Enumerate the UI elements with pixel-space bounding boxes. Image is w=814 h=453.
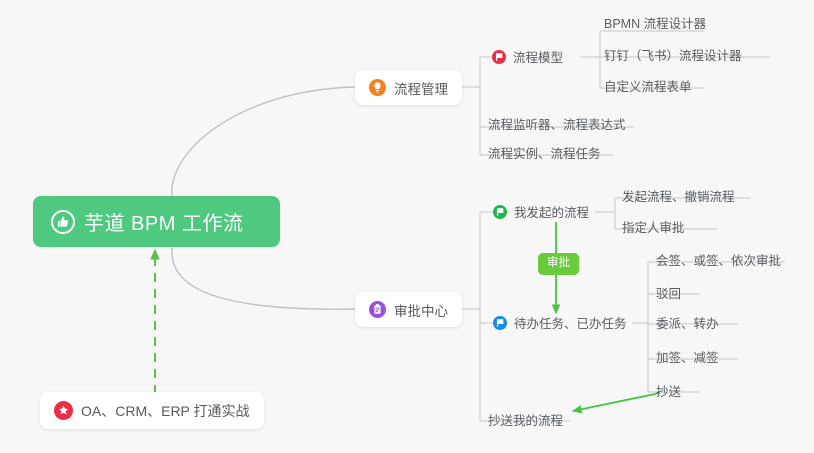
node-custom-process-form-label: 自定义流程表单 — [604, 76, 692, 95]
node-process-management[interactable]: 流程管理 — [355, 70, 462, 105]
node-cc-to-me[interactable]: 抄送我的流程 — [488, 410, 563, 429]
node-custom-process-form[interactable]: 自定义流程表单 — [604, 76, 692, 95]
node-instance-task-label: 流程实例、流程任务 — [488, 143, 601, 162]
node-instance-task[interactable]: 流程实例、流程任务 — [488, 143, 601, 162]
flag-circle-blue-icon — [493, 316, 507, 330]
node-countersign[interactable]: 会签、或签、依次审批 — [656, 250, 781, 269]
node-carbon-copy-label: 抄送 — [656, 381, 681, 400]
edge-root-to-process-management — [172, 87, 355, 196]
node-carbon-copy[interactable]: 抄送 — [656, 381, 681, 400]
node-process-model-label: 流程模型 — [513, 47, 563, 66]
flag-circle-red-icon — [492, 50, 506, 64]
node-assignee-approval[interactable]: 指定人审批 — [622, 217, 685, 236]
node-countersign-label: 会签、或签、依次审批 — [656, 250, 781, 269]
node-start-cancel-process-label: 发起流程、撤销流程 — [622, 186, 735, 205]
node-listener-expression-label: 流程监听器、流程表达式 — [488, 114, 626, 133]
node-my-initiated[interactable]: 我发起的流程 — [493, 202, 589, 221]
node-add-remove-sign[interactable]: 加签、减签 — [656, 347, 719, 366]
node-process-model[interactable]: 流程模型 — [492, 47, 563, 66]
mindmap-canvas: 芋道 BPM 工作流 流程管理 审批中心 OA、CR — [0, 0, 814, 453]
node-approval-center[interactable]: 审批中心 — [355, 292, 462, 327]
flag-circle-green-icon — [493, 205, 507, 219]
node-process-management-label: 流程管理 — [394, 78, 448, 98]
node-todo-done-tasks-label: 待办任务、已办任务 — [514, 313, 627, 332]
node-integration-practice[interactable]: OA、CRM、ERP 打通实战 — [40, 392, 264, 429]
node-dingtalk-feishu-designer-label: 钉钉（飞书）流程设计器 — [604, 45, 742, 64]
thumbs-up-circle-icon — [51, 210, 75, 234]
node-listener-expression[interactable]: 流程监听器、流程表达式 — [488, 114, 626, 133]
star-circle-icon — [54, 401, 73, 420]
lightbulb-circle-icon — [369, 79, 386, 96]
root-node[interactable]: 芋道 BPM 工作流 — [33, 196, 280, 247]
node-delegate-transfer-label: 委派、转办 — [656, 313, 719, 332]
node-assignee-approval-label: 指定人审批 — [622, 217, 685, 236]
node-reject-label: 驳回 — [656, 283, 681, 302]
root-label: 芋道 BPM 工作流 — [84, 207, 243, 236]
node-integration-practice-label: OA、CRM、ERP 打通实战 — [81, 401, 250, 421]
node-my-initiated-label: 我发起的流程 — [514, 202, 589, 221]
node-approval-center-label: 审批中心 — [394, 300, 448, 320]
node-bpmn-designer-label: BPMN 流程设计器 — [604, 13, 706, 32]
node-start-cancel-process[interactable]: 发起流程、撤销流程 — [622, 186, 735, 205]
clipboard-circle-icon — [369, 301, 386, 318]
node-cc-to-me-label: 抄送我的流程 — [488, 410, 563, 429]
node-bpmn-designer[interactable]: BPMN 流程设计器 — [604, 13, 706, 32]
approve-tag[interactable]: 审批 — [538, 253, 579, 275]
node-dingtalk-feishu-designer[interactable]: 钉钉（飞书）流程设计器 — [604, 45, 742, 64]
node-delegate-transfer[interactable]: 委派、转办 — [656, 313, 719, 332]
node-todo-done-tasks[interactable]: 待办任务、已办任务 — [493, 313, 627, 332]
edge-root-to-approval-center — [172, 248, 355, 309]
node-add-remove-sign-label: 加签、减签 — [656, 347, 719, 366]
arrow-carbon-copy-to-cc-to-me — [573, 393, 660, 411]
node-reject[interactable]: 驳回 — [656, 283, 681, 302]
